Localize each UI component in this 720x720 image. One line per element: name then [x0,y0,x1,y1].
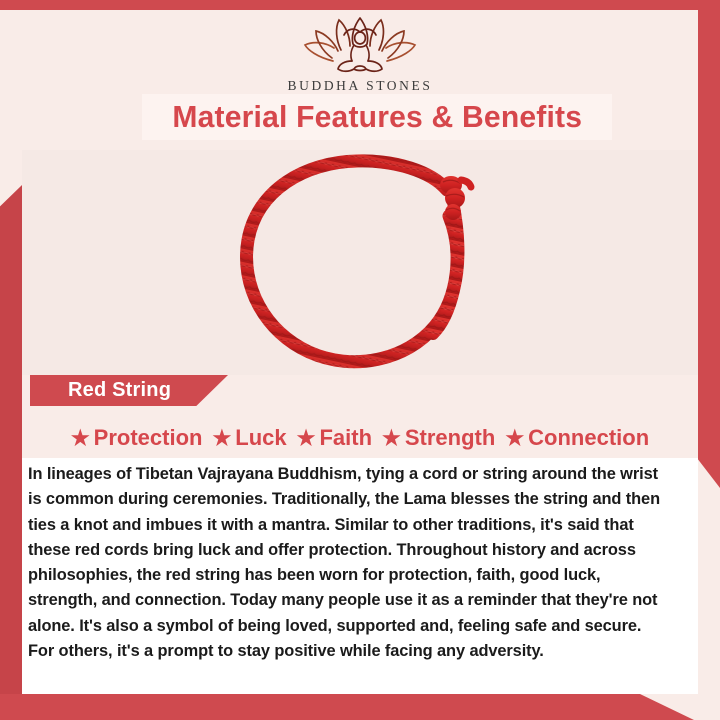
star-icon: ★ [212,428,231,449]
benefit-label: Luck [235,425,286,451]
product-tag: Red String [30,375,228,406]
description-panel: In lineages of Tibetan Vajrayana Buddhis… [22,458,698,694]
frame-bar-left [0,185,22,720]
page-title: Material Features & Benefits [172,99,582,135]
frame-bar-bottom [0,694,720,720]
benefit-label: Connection [528,425,649,451]
benefits-list: ★ Protection ★ Luck ★ Faith ★ Strength ★… [22,418,698,458]
benefit-label: Protection [94,425,203,451]
description-text: In lineages of Tibetan Vajrayana Buddhis… [28,462,670,664]
star-icon: ★ [505,428,524,449]
benefit-item: ★ Strength [378,425,499,451]
star-icon: ★ [297,428,316,449]
star-icon: ★ [71,428,90,449]
red-string-bracelet-image [235,154,485,374]
star-icon: ★ [382,428,401,449]
benefit-item: ★ Protection [67,425,207,451]
benefit-item: ★ Luck [208,425,290,451]
infographic-page: BUDDHA STONES Material Features & Benefi… [0,0,720,720]
frame-bar-top [0,0,720,10]
brand-name: BUDDHA STONES [0,78,720,94]
product-tag-label: Red String [30,379,171,402]
benefit-item: ★ Faith [293,425,376,451]
lotus-meditation-icon [301,14,419,76]
title-banner: Material Features & Benefits [142,94,612,140]
benefit-label: Strength [405,425,495,451]
product-photo [22,150,698,375]
brand-logo: BUDDHA STONES [0,14,720,94]
benefit-item: ★ Connection [501,425,653,451]
benefit-label: Faith [319,425,372,451]
